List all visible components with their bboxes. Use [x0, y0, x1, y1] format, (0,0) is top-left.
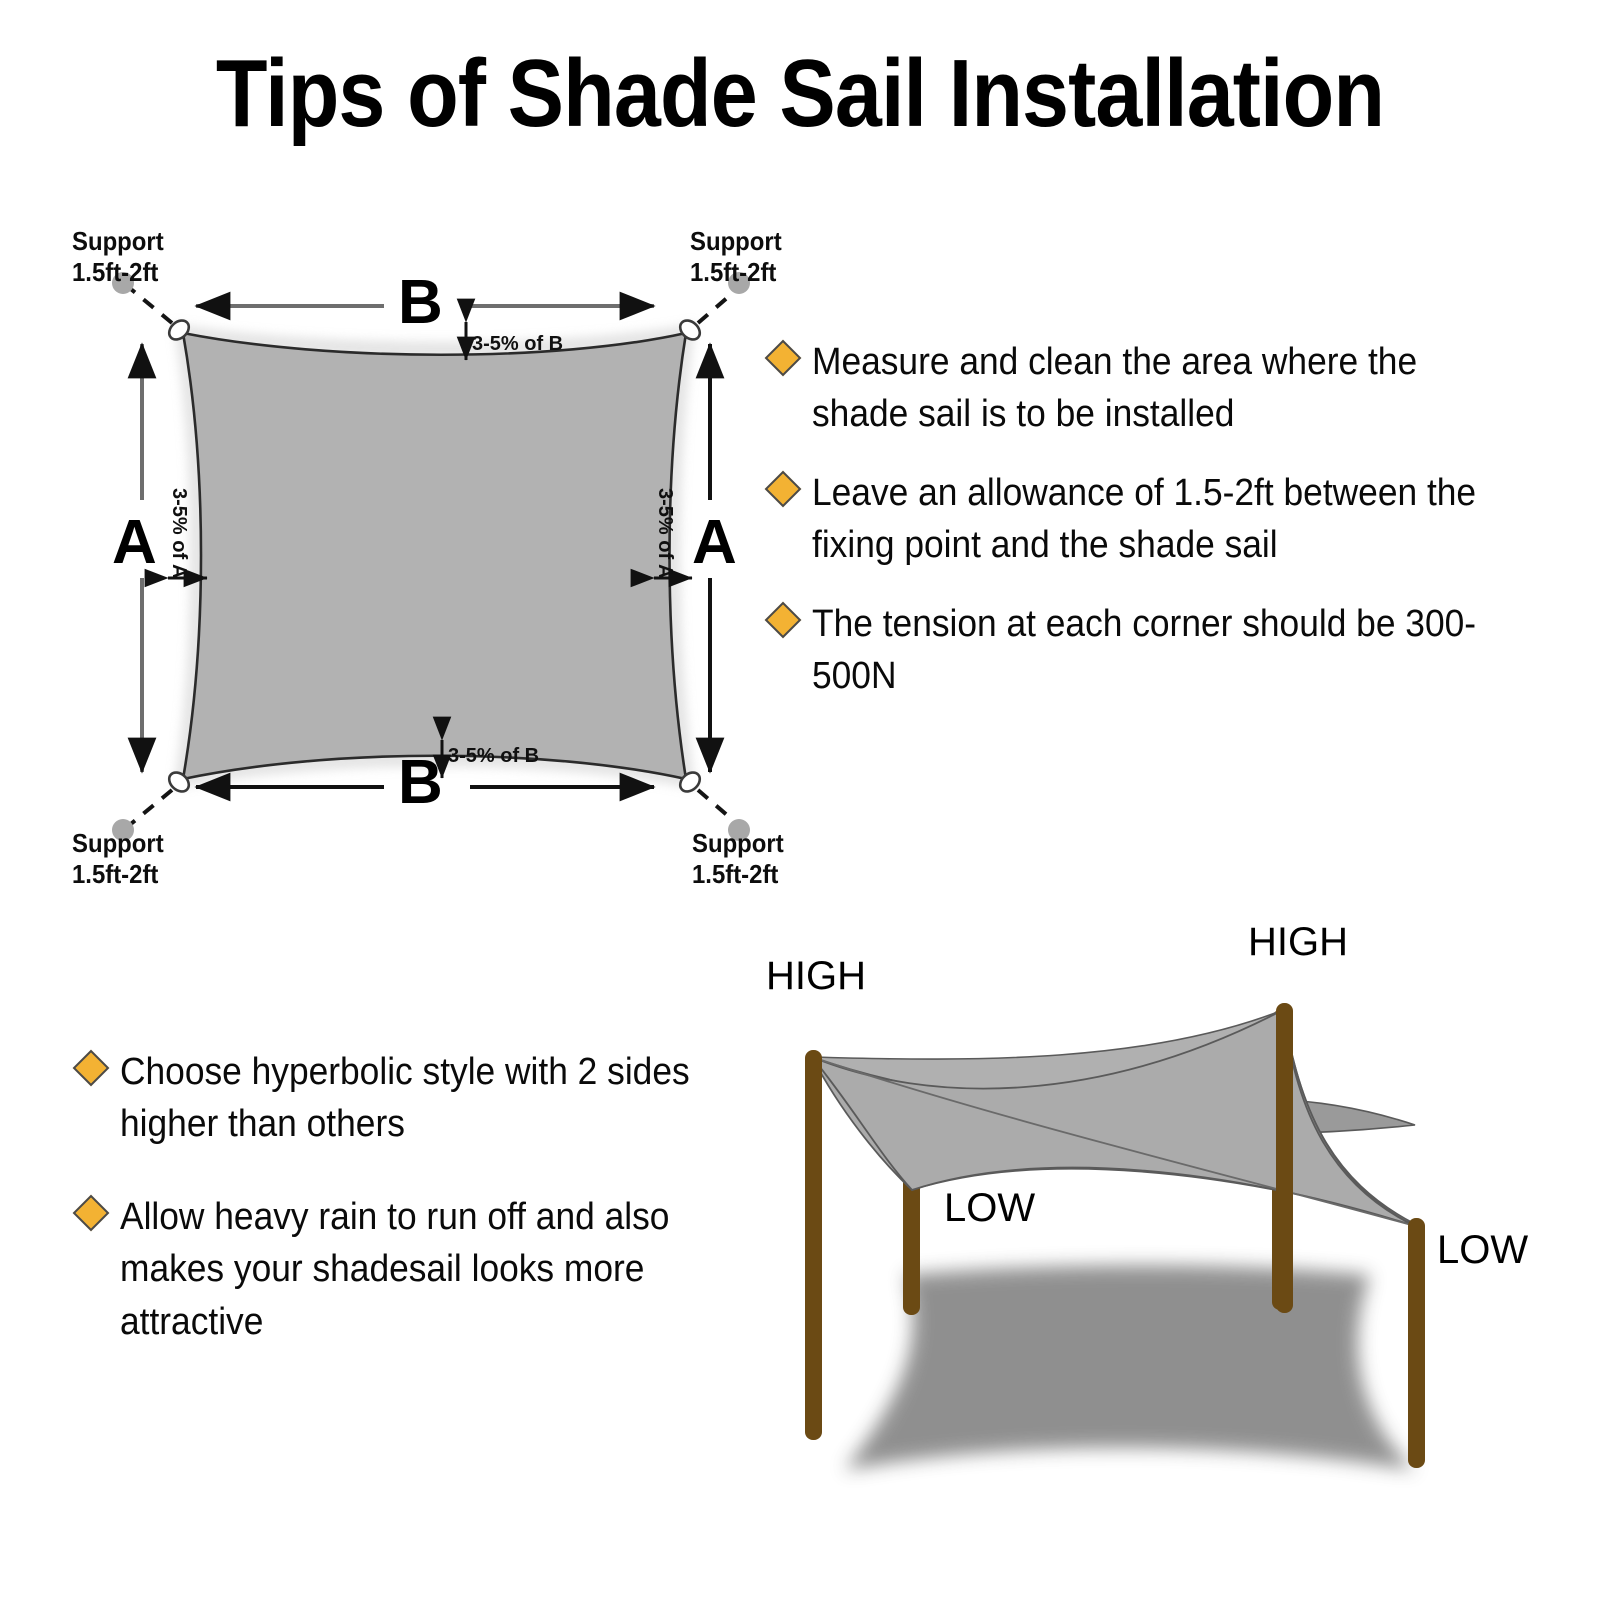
diamond-bullet-icon [73, 1194, 110, 1231]
sail-top-edge [812, 1010, 1283, 1123]
support-label-line2: 1.5ft-2ft [690, 257, 782, 288]
corner-label-high-left: HIGH [766, 954, 866, 999]
list-item: Allow heavy rain to run off and also mak… [78, 1191, 768, 1348]
list-item: Leave an allowance of 1.5-2ft between th… [770, 467, 1540, 572]
diamond-bullet-icon [73, 1050, 110, 1087]
tips-list-bottom: Choose hyperbolic style with 2 sides hig… [78, 1046, 768, 1388]
support-label-line1: Support [72, 226, 164, 257]
list-item: Choose hyperbolic style with 2 sides hig… [78, 1046, 768, 1151]
pole-group-front [805, 1003, 1425, 1468]
corner-ring-bottom-left [165, 769, 192, 796]
tip-text: Leave an allowance of 1.5-2ft between th… [812, 467, 1489, 572]
sail-canopy-upper [812, 1010, 1283, 1098]
support-cable-top-left [126, 285, 172, 323]
corner-ring-bottom-right [676, 769, 703, 796]
sail-edge-left [812, 1057, 912, 1190]
sail-fold-crease [812, 1057, 1415, 1226]
dimension-label-b-bottom: B [398, 752, 443, 814]
diamond-bullet-icon [765, 340, 802, 377]
sail-edge-halo [183, 333, 686, 779]
sag-note-b-bottom: 3-5% of B [448, 745, 539, 768]
support-label-top-left: Support 1.5ft-2ft [72, 226, 164, 287]
support-cable-bottom-left [126, 790, 172, 828]
support-label-line1: Support [692, 828, 784, 859]
support-label-line2: 1.5ft-2ft [72, 859, 164, 890]
sag-note-a-right: 3-5% of A [653, 488, 676, 578]
sail-edge-right [1283, 1010, 1415, 1226]
tips-list-top: Measure and clean the area where the sha… [770, 336, 1540, 729]
dimension-label-b-top: B [398, 272, 443, 334]
corner-ring-top-left [165, 317, 192, 344]
support-label-line2: 1.5ft-2ft [692, 859, 784, 890]
list-item: The tension at each corner should be 300… [770, 598, 1540, 703]
pole-high-left [805, 1050, 822, 1440]
sail-sheet-main [812, 1010, 1415, 1226]
dimension-label-a-right: A [692, 512, 737, 574]
sag-note-b-top: 3-5% of B [472, 333, 563, 356]
pole-low-mid [1272, 1010, 1289, 1310]
support-label-line2: 1.5ft-2ft [72, 257, 164, 288]
support-label-bottom-left: Support 1.5ft-2ft [72, 828, 164, 889]
list-item: Measure and clean the area where the sha… [770, 336, 1540, 441]
corner-ring-top-right [676, 317, 703, 344]
tip-text: The tension at each corner should be 300… [812, 598, 1489, 703]
corner-label-low-right: LOW [1437, 1228, 1528, 1273]
pole-high-right [1276, 1003, 1293, 1313]
corner-label-low-left: LOW [944, 1186, 1035, 1231]
pole-low-right [1408, 1218, 1425, 1468]
support-cable-bottom-right [698, 790, 742, 828]
sail-panel-light [812, 1010, 1415, 1224]
support-label-top-right: Support 1.5ft-2ft [690, 226, 782, 287]
support-label-bottom-right: Support 1.5ft-2ft [692, 828, 784, 889]
sail-shape [183, 333, 686, 779]
dimension-label-a-left: A [112, 512, 157, 574]
tip-text: Allow heavy rain to run off and also mak… [120, 1191, 723, 1348]
tip-text: Measure and clean the area where the sha… [812, 336, 1489, 441]
diamond-bullet-icon [765, 601, 802, 638]
pole-low-left [903, 1175, 920, 1315]
diamond-bullet-icon [765, 470, 802, 507]
support-label-line1: Support [72, 828, 164, 859]
support-label-line1: Support [690, 226, 782, 257]
ground-shadow [845, 1265, 1415, 1470]
pole-group-back [903, 1010, 1289, 1315]
support-cable-top-right [698, 285, 742, 323]
sag-note-a-left: 3-5% of A [167, 488, 190, 578]
sail-panel-dark [812, 1057, 1415, 1190]
page-title: Tips of Shade Sail Installation [96, 46, 1504, 142]
tip-text: Choose hyperbolic style with 2 sides hig… [120, 1046, 723, 1151]
infographic-page: Tips of Shade Sail Installation [0, 0, 1600, 1600]
corner-label-high-right: HIGH [1248, 920, 1348, 965]
